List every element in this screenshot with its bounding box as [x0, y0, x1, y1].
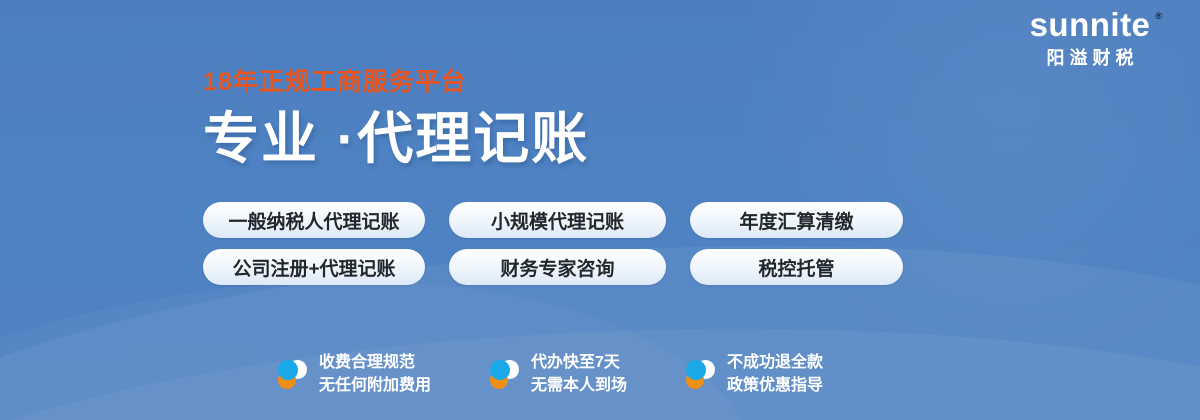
- circle-blue-icon: [686, 360, 706, 380]
- feature-text-guarantee: 不成功退全款 政策优惠指导: [727, 351, 823, 397]
- feature-line-1: 收费合理规范: [319, 354, 415, 371]
- service-tag-tax-control-hosting[interactable]: 税控托管: [690, 249, 903, 285]
- hero-copy: 18年正规工商服务平台 专业 ·代理记账: [203, 70, 589, 169]
- overlapping-circles-icon: [489, 358, 520, 391]
- feature-item-guarantee: 不成功退全款 政策优惠指导: [685, 351, 823, 397]
- feature-line-1: 不成功退全款: [727, 354, 823, 371]
- registered-trademark-icon: ®: [1155, 12, 1162, 21]
- feature-line-1: 代办快至7天: [531, 354, 620, 371]
- feature-line-2: 无任何附加费用: [319, 377, 431, 394]
- service-tag-company-registration-bookkeeping[interactable]: 公司注册+代理记账: [203, 249, 425, 285]
- circle-blue-icon: [490, 360, 510, 380]
- feature-text-speed: 代办快至7天 无需本人到场: [531, 351, 627, 397]
- promo-banner: sunnite sunnite ® 阳溢财税 18年正规工商服务平台 专业 ·代…: [0, 0, 1200, 420]
- service-tag-general-taxpayer-bookkeeping[interactable]: 一般纳税人代理记账: [203, 202, 425, 238]
- brand-subtitle: 阳溢财税: [1002, 49, 1178, 67]
- service-tag-row-2: 公司注册+代理记账 财务专家咨询 税控托管: [203, 249, 903, 285]
- feature-text-pricing: 收费合理规范 无任何附加费用: [319, 351, 431, 397]
- brand-logo[interactable]: sunnite sunnite ® 阳溢财税: [1002, 8, 1178, 67]
- hero-headline: 专业 ·代理记账: [203, 110, 589, 169]
- brand-wordmark: sunnite: [1030, 8, 1151, 41]
- feature-line-2: 政策优惠指导: [727, 377, 823, 394]
- overlapping-circles-icon: [685, 358, 716, 391]
- service-tag-row-1: 一般纳税人代理记账 小规模代理记账 年度汇算清缴: [203, 202, 903, 238]
- service-tag-annual-settlement[interactable]: 年度汇算清缴: [690, 202, 903, 238]
- hero-eyebrow: 18年正规工商服务平台: [203, 70, 589, 95]
- feature-item-speed: 代办快至7天 无需本人到场: [489, 351, 627, 397]
- overlapping-circles-icon: [277, 358, 308, 391]
- service-tag-finance-expert-consulting[interactable]: 财务专家咨询: [449, 249, 666, 285]
- feature-list: 收费合理规范 无任何附加费用 代办快至7天 无需本人到场 不成功退全款: [277, 351, 823, 397]
- feature-line-2: 无需本人到场: [531, 377, 627, 394]
- service-tag-grid: 一般纳税人代理记账 小规模代理记账 年度汇算清缴 公司注册+代理记账 财务专家咨…: [203, 202, 903, 285]
- feature-item-pricing: 收费合理规范 无任何附加费用: [277, 351, 431, 397]
- service-tag-small-scale-bookkeeping[interactable]: 小规模代理记账: [449, 202, 666, 238]
- circle-blue-icon: [278, 360, 298, 380]
